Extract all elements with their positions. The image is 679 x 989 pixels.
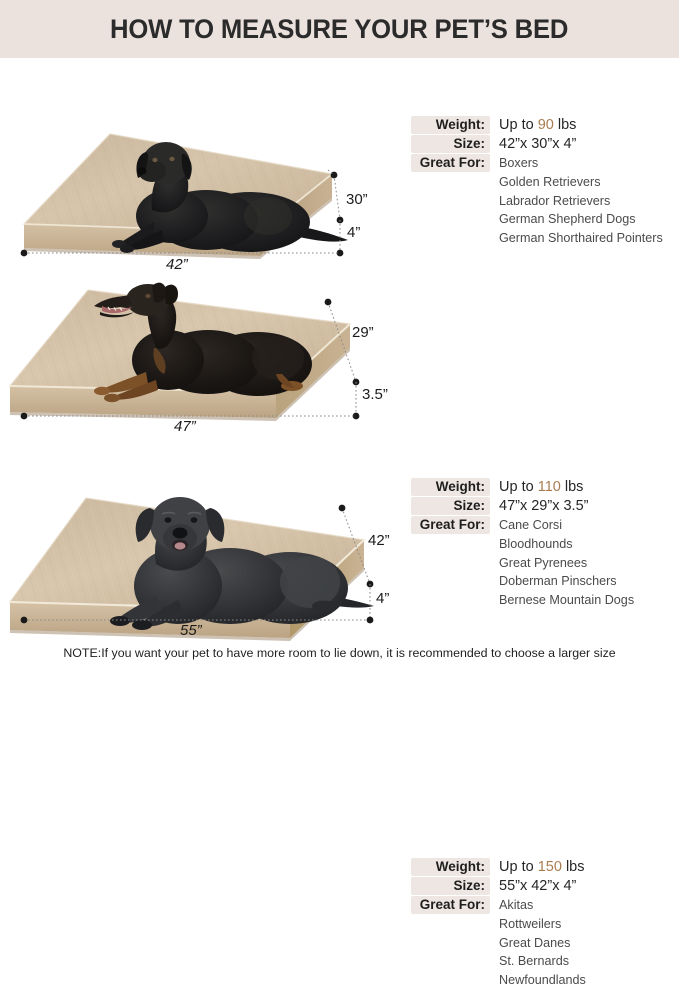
spec-row-size: Size: 55”x 42”x 4”	[411, 877, 679, 895]
weight-label: Weight:	[411, 116, 490, 134]
great-for-label: Great For:	[411, 154, 490, 172]
breed-item: Newfoundlands	[499, 971, 679, 989]
spec-row-great-for: Great For: Akitas	[411, 896, 679, 914]
spec-row-size: Size: 42”x 30”x 4”	[411, 135, 679, 153]
breed-item: Akitas	[490, 896, 533, 914]
weight-value: Up to 90 lbs	[490, 116, 576, 134]
weight-number: 150	[538, 859, 562, 875]
size-label: Size:	[411, 135, 490, 153]
footer-note: NOTE:If you want your pet to have more r…	[0, 646, 679, 660]
spec-row-weight: Weight: Up to 90 lbs	[411, 116, 679, 134]
breed-item: Great Danes	[499, 934, 679, 953]
dim-height-label-medium: 3.5”	[362, 386, 388, 403]
spec-panel-large: Weight: Up to 150 lbs Size: 55”x 42”x 4”…	[411, 858, 679, 989]
bed-illustration-large	[4, 488, 372, 663]
dog-doberman	[86, 282, 326, 407]
product-row-small: 30” 4” 42” Weight: Up to 90 lbs Size: 42…	[0, 58, 679, 230]
bed-illustration-medium	[4, 282, 356, 442]
product-row-medium: 29” 3.5” 47” Weight: Up to 110 lbs Size:…	[0, 230, 679, 420]
header-band: HOW TO MEASURE YOUR PET’S BED	[0, 0, 679, 58]
spec-row-weight: Weight: Up to 150 lbs	[411, 858, 679, 876]
spec-panel-small: Weight: Up to 90 lbs Size: 42”x 30”x 4” …	[411, 116, 679, 247]
size-label: Size:	[411, 877, 490, 895]
weight-prefix: Up to	[499, 859, 534, 875]
dog-great-dane	[112, 492, 384, 650]
spec-row-great-for: Great For: Boxers	[411, 154, 679, 172]
breed-list-large: Rottweilers Great Danes St. Bernards New…	[411, 915, 679, 989]
breed-item: St. Bernards	[499, 952, 679, 971]
breed-item: German Shepherd Dogs	[499, 210, 679, 229]
weight-value: Up to 150 lbs	[490, 858, 584, 876]
weight-number: 90	[538, 117, 554, 133]
weight-label: Weight:	[411, 858, 490, 876]
great-for-label: Great For:	[411, 896, 490, 914]
size-value: 42”x 30”x 4”	[490, 135, 576, 153]
breed-item: Labrador Retrievers	[499, 192, 679, 211]
size-value: 55”x 42”x 4”	[490, 877, 576, 895]
weight-unit: lbs	[566, 859, 585, 875]
page-title: HOW TO MEASURE YOUR PET’S BED	[110, 14, 568, 45]
weight-prefix: Up to	[499, 117, 534, 133]
breed-item: Rottweilers	[499, 915, 679, 934]
breed-item: Boxers	[490, 154, 538, 172]
product-row-large: 42” 4” 55” Weight: Up to 150 lbs Size: 5…	[0, 420, 679, 642]
weight-unit: lbs	[558, 117, 577, 133]
breed-item: Golden Retrievers	[499, 173, 679, 192]
